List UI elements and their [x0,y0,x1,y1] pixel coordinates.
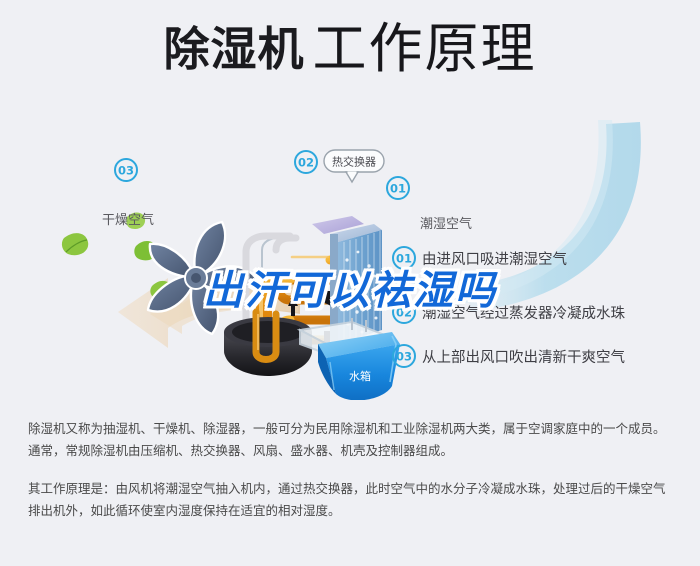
paragraph-1: 除湿机又称为抽湿机、干燥机、除湿器，一般可分为民用除湿机和工业除湿机两大类，属于… [28,418,676,462]
label-heat-exchanger: 02 热交换器 [295,150,384,182]
step-item-1: 01 由进风口吸进潮湿空气 [393,247,567,269]
label-humid-air: 01 潮湿空气 [387,177,472,232]
compressor [224,312,312,376]
label-heat-exchanger-text: 热交换器 [332,155,376,169]
step-text-2: 潮湿空气经过蒸发器冷凝成水珠 [422,305,625,322]
body-copy: 除湿机又称为抽湿机、干燥机、除湿器，一般可分为民用除湿机和工业除湿机两大类，属于… [28,418,676,522]
step-badge-1: 01 [396,252,412,266]
water-tank: 水箱 [318,332,400,400]
label-dry-air-text: 干燥空气 [102,212,154,228]
page-title: 除湿机工作原理 [0,22,700,76]
step-text-1: 由进风口吸进潮湿空气 [422,251,567,268]
step-badge-2: 02 [396,306,412,320]
step-badge-3: 03 [396,350,412,364]
title-secondary: 工作原理 [313,17,537,80]
dehumidifier-diagram: 水箱 03 干燥空气 02 热交换器 01 潮湿空气 [0,100,700,400]
humid-air-flow [372,120,641,312]
title-primary: 除湿机 [164,22,305,76]
label-heat-exchanger-badge: 02 [298,156,314,170]
water-tank-label: 水箱 [349,369,371,383]
label-dry-air: 03 干燥空气 [102,159,154,228]
label-humid-air-badge: 01 [390,182,406,196]
label-dry-air-badge: 03 [118,164,134,178]
label-humid-air-text: 潮湿空气 [420,216,472,232]
infographic-page: 除湿机工作原理 [0,0,700,566]
step-text-3: 从上部出风口吹出清新干爽空气 [422,349,625,366]
step-item-3: 03 从上部出风口吹出清新干爽空气 [393,345,625,367]
paragraph-2: 其工作原理是：由风机将潮湿空气抽入机内，通过热交换器，此时空气中的水分子冷凝成水… [28,478,676,522]
step-list: 01 由进风口吸进潮湿空气 02 潮湿空气经过蒸发器冷凝成水珠 03 从上部出风… [393,247,625,367]
